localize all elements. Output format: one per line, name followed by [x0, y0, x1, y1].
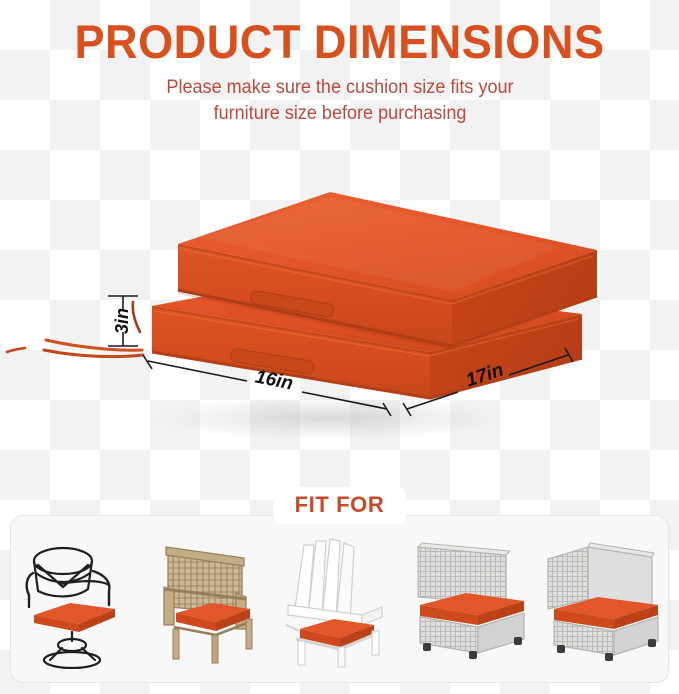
swivel-chair-seat-cushion [34, 603, 115, 632]
page-title: PRODUCT DIMENSIONS [14, 0, 666, 65]
subtitle-line-2: furniture size before purchasing [131, 101, 549, 127]
adirondack-chair-icon [286, 539, 382, 667]
fit-for-item-swivel-metal-patio-chair [13, 524, 139, 674]
dimension-height-label: 3in [112, 308, 132, 334]
fit-for-item-armless-sectional-sofa [408, 524, 534, 674]
fit-for-item-wicker-dining-armchair [145, 524, 271, 674]
swivel-metal-patio-chair-icon [27, 548, 110, 607]
fit-for-item-corner-sectional-sofa [540, 524, 666, 674]
armless-sectional-sofa-icon [418, 543, 524, 659]
product-stage: 3in 16in 17in [0, 150, 679, 480]
header: PRODUCT DIMENSIONS Please make sure the … [0, 0, 679, 126]
corner-sectional-sofa-icon [548, 543, 658, 661]
page-subtitle: Please make sure the cushion size fits y… [131, 75, 549, 126]
fit-for-item-adirondack-chair [276, 524, 402, 674]
product-dimensions-infographic: PRODUCT DIMENSIONS Please make sure the … [0, 0, 679, 694]
subtitle-line-1: Please make sure the cushion size fits y… [131, 75, 549, 101]
fit-for-item-list [10, 515, 669, 683]
fit-for-section: FIT FOR [0, 487, 679, 694]
wicker-dining-armchair-icon [164, 547, 252, 663]
fit-for-badge: FIT FOR [273, 487, 407, 524]
product-shadow [115, 392, 545, 444]
